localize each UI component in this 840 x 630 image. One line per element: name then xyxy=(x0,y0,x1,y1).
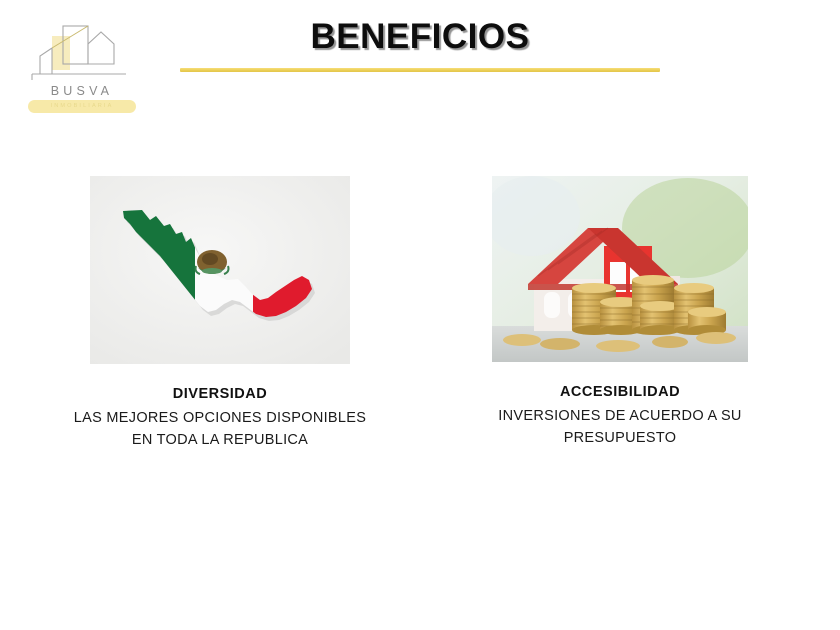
benefit-line-1: INVERSIONES DE ACUERDO A SU xyxy=(420,405,820,427)
benefit-line-2: PRESUPUESTO xyxy=(420,427,820,449)
page-title: BENEFICIOS xyxy=(0,17,840,57)
benefit-card-accesibilidad: ACCESIBILIDAD INVERSIONES DE ACUERDO A S… xyxy=(420,176,820,449)
benefit-heading: DIVERSIDAD xyxy=(20,386,420,402)
mexico-map-flag-image xyxy=(90,176,350,364)
benefit-caption-accesibilidad: ACCESIBILIDAD INVERSIONES DE ACUERDO A S… xyxy=(420,384,820,449)
benefit-line-2: EN TODA LA REPUBLICA xyxy=(20,429,420,451)
brand-name: BUSVA xyxy=(22,84,142,98)
benefit-caption-diversidad: DIVERSIDAD LAS MEJORES OPCIONES DISPONIB… xyxy=(20,386,420,451)
title-underline-rule xyxy=(180,68,660,72)
benefit-heading: ACCESIBILIDAD xyxy=(420,384,820,400)
brand-tagline: INMOBILIARIA xyxy=(28,100,136,113)
house-coins-image xyxy=(492,176,748,362)
benefit-card-diversidad: DIVERSIDAD LAS MEJORES OPCIONES DISPONIB… xyxy=(20,176,420,451)
benefit-line-1: LAS MEJORES OPCIONES DISPONIBLES xyxy=(20,407,420,429)
brand-tagline-pill: INMOBILIARIA xyxy=(28,100,136,113)
